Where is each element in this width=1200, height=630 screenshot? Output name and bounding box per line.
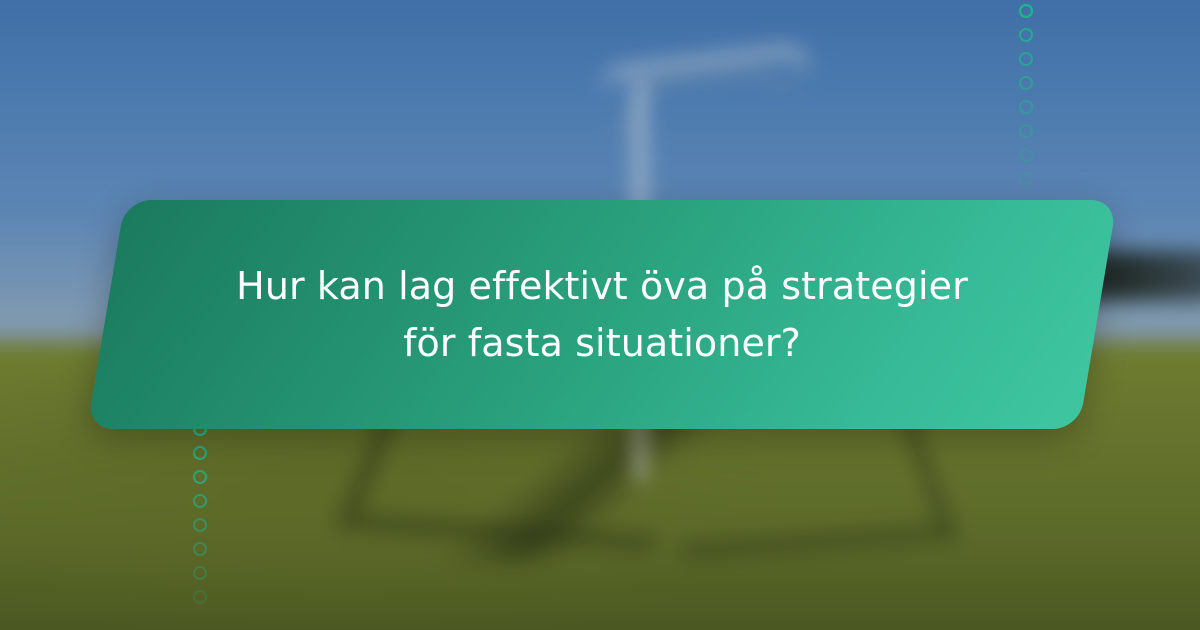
goal-shadow-right	[636, 407, 958, 558]
question-text: Hur kan lag effektivt öva på strategier …	[232, 258, 972, 370]
question-card-content: Hur kan lag effektivt öva på strategier …	[106, 200, 1098, 429]
question-card: Hur kan lag effektivt öva på strategier …	[106, 200, 1098, 429]
quote-card-canvas: Hur kan lag effektivt öva på strategier …	[0, 0, 1200, 630]
